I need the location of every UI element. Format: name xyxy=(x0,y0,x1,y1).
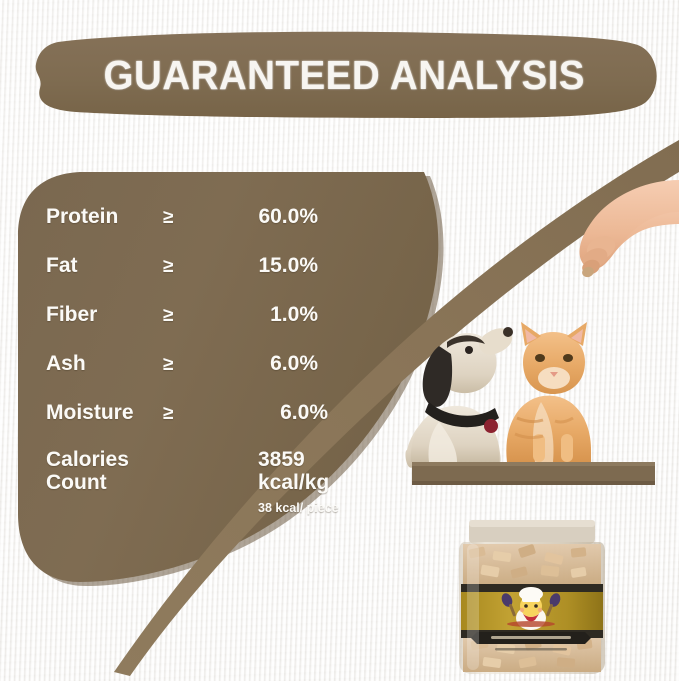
nutrient-name: Fiber xyxy=(46,303,97,327)
nutrient-name: Ash xyxy=(46,352,86,376)
calories-label-line2: Count xyxy=(46,471,107,494)
calories-label: Calories Count xyxy=(46,448,129,494)
table-row: Fiber ≥ 1.0% xyxy=(46,303,346,352)
calories-per-piece: 38 kcal/ piece xyxy=(258,501,339,515)
cat-eye-right xyxy=(563,354,573,362)
table-row: Fat ≥ 15.0% xyxy=(46,254,346,303)
nutrient-value: 15.0% xyxy=(196,254,318,278)
dog-nose xyxy=(503,327,513,337)
header-banner: GUARANTEED ANALYSIS xyxy=(18,30,663,120)
nutrient-name: Protein xyxy=(46,205,118,229)
page-title: GUARANTEED ANALYSIS xyxy=(37,30,643,120)
comparison-operator: ≥ xyxy=(163,305,173,327)
nutrient-value: 1.0% xyxy=(196,303,318,327)
nutrient-name: Moisture xyxy=(46,401,134,425)
nutrient-name: Fat xyxy=(46,254,78,278)
nutrient-value: 6.0% xyxy=(196,352,318,376)
comparison-operator: ≥ xyxy=(163,256,173,278)
table-row: Moisture ≥ 6.0% xyxy=(46,401,346,450)
nutrient-value: 60.0% xyxy=(196,205,318,229)
calories-label-line1: Calories xyxy=(46,448,129,471)
dog-looking-up xyxy=(405,327,513,468)
comparison-operator: ≥ xyxy=(163,403,173,425)
jar-contents-top xyxy=(463,544,601,586)
product-jar-of-freeze-dried-treats xyxy=(459,520,605,674)
product-photo-collage xyxy=(395,150,679,681)
calories-value-unit: kcal/kg xyxy=(258,471,329,494)
table-row: Ash ≥ 6.0% xyxy=(46,352,346,401)
wooden-shelf xyxy=(412,462,655,485)
comparison-operator: ≥ xyxy=(163,354,173,376)
table-row: Protein ≥ 60.0% xyxy=(46,205,346,254)
orange-tabby-cat-looking-up xyxy=(506,322,591,462)
guaranteed-analysis-table: Protein ≥ 60.0% Fat ≥ 15.0% Fiber ≥ 1.0%… xyxy=(46,205,346,450)
nutrient-value: 6.0% xyxy=(196,401,328,425)
calories-value-number: 3859 xyxy=(258,448,305,471)
jar-brand-script xyxy=(507,621,555,627)
dog-ear xyxy=(423,346,452,407)
cat-eye-left xyxy=(535,354,545,362)
hand-holding-treat xyxy=(579,180,679,279)
calories-value: 3859 kcal/kg xyxy=(258,448,329,494)
comparison-operator: ≥ xyxy=(163,207,173,229)
dog-tag xyxy=(484,419,498,433)
calories-block: Calories Count 3859 kcal/kg 38 kcal/ pie… xyxy=(46,448,356,528)
